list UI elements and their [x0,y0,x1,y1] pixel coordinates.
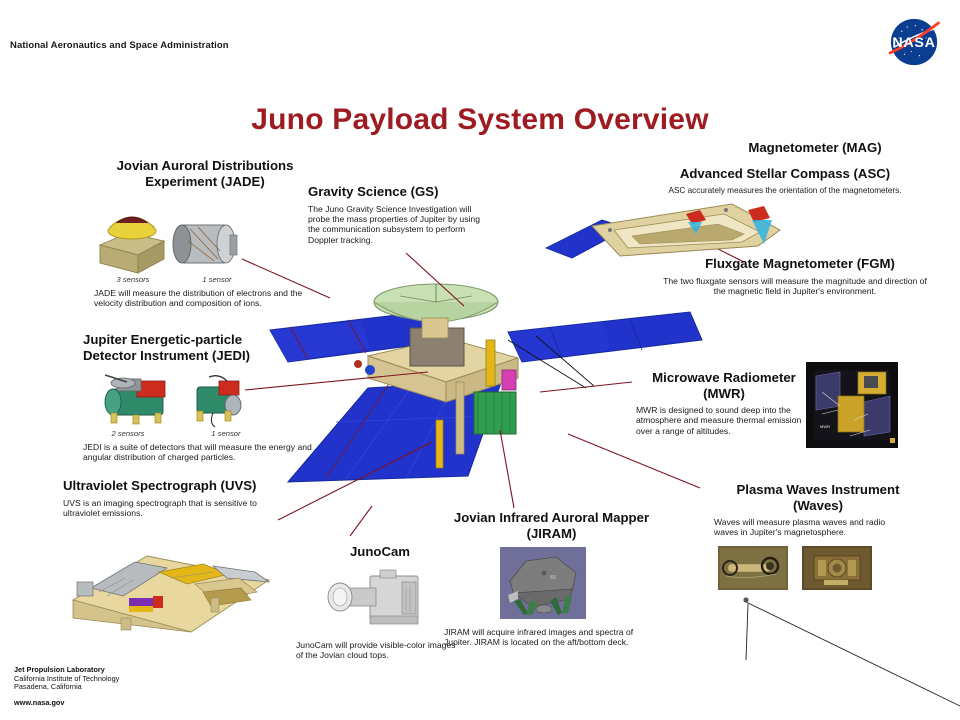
jade-caption-left: 3 sensors [104,275,162,284]
footer-url[interactable]: www.nasa.gov [14,699,119,708]
junocam-camera-render [316,566,464,630]
jedi-instrument-render [93,369,333,429]
magnetometer-boom-render [536,186,788,264]
uvs-body: UVS is an imaging spectrograph that is s… [63,498,291,519]
jedi-heading-line1: Jupiter Energetic-particle [83,332,242,347]
callout-jiram[interactable]: Jovian Infrared Auroral Mapper (JIRAM) J… [444,510,659,648]
jade-heading-line2: Experiment (JADE) [145,174,264,189]
waves-heading-line1: Plasma Waves Instrument [737,482,900,497]
mwr-spacecraft-photo: MWR [806,362,898,448]
mwr-heading-line1: Microwave Radiometer [652,370,796,385]
waves-antenna-photo [718,546,788,590]
fgm-heading: Fluxgate Magnetometer (FGM) [660,256,940,272]
mag-heading: Magnetometer (MAG) [700,140,930,156]
footer-line3: Pasadena, California [14,683,119,692]
callout-jade[interactable]: Jovian Auroral Distributions Experiment … [80,158,330,309]
mwr-heading-line2: (MWR) [703,386,745,401]
jiram-heading-line1: Jovian Infrared Auroral Mapper [454,510,649,525]
poster-canvas: National Aeronautics and Space Administr… [0,0,960,720]
jade-caption-right: 1 sensor [188,275,246,284]
asc-heading: Advanced Stellar Compass (ASC) [640,166,930,182]
svg-text:MWR: MWR [820,424,830,429]
waves-electronics-photo [802,546,872,590]
waves-body: Waves will measure plasma waves and radi… [714,517,900,538]
junocam-body: JunoCam will provide visible-color image… [296,640,456,661]
junocam-heading: JunoCam [296,544,464,560]
gs-heading: Gravity Science (GS) [308,184,498,200]
jedi-caption-right: 1 sensor [199,429,253,438]
mwr-body: MWR is designed to sound deep into the a… [636,405,808,436]
jedi-heading-line2: Detector Instrument (JEDI) [83,348,250,363]
gs-body: The Juno Gravity Science Investigation w… [308,204,494,246]
callout-waves[interactable]: Plasma Waves Instrument (Waves) Waves wi… [708,482,928,590]
jade-heading-line1: Jovian Auroral Distributions [117,158,294,173]
uvs-instrument-render [63,522,313,640]
jedi-caption-left: 2 sensors [101,429,155,438]
jedi-body: JEDI is a suite of detectors that will m… [83,442,319,463]
fgm-body: The two fluxgate sensors will measure th… [660,276,930,297]
jade-body: JADE will measure the distribution of el… [94,288,309,309]
callout-jedi[interactable]: Jupiter Energetic-particle Detector Inst… [83,332,333,463]
jiram-body: JIRAM will acquire infrared images and s… [444,627,650,648]
callout-fgm[interactable]: Fluxgate Magnetometer (FGM) The two flux… [660,256,940,296]
callout-mag[interactable]: Magnetometer (MAG) [700,140,930,156]
callout-uvs[interactable]: Ultraviolet Spectrograph (UVS) UVS is an… [63,478,313,640]
jade-instrument-render [94,197,330,275]
uvs-heading: Ultraviolet Spectrograph (UVS) [63,478,313,494]
callout-junocam[interactable]: JunoCam JunoCam will provide visible-col… [296,544,464,660]
jiram-instrument-photo [500,547,659,619]
callout-gravity-science[interactable]: Gravity Science (GS) The Juno Gravity Sc… [308,184,498,245]
callout-mwr[interactable]: Microwave Radiometer (MWR) MWR is design… [636,370,812,436]
jiram-heading-line2: (JIRAM) [527,526,577,541]
waves-heading-line2: (Waves) [793,498,843,513]
footer-credits: Jet Propulsion Laboratory California Ins… [14,666,119,707]
